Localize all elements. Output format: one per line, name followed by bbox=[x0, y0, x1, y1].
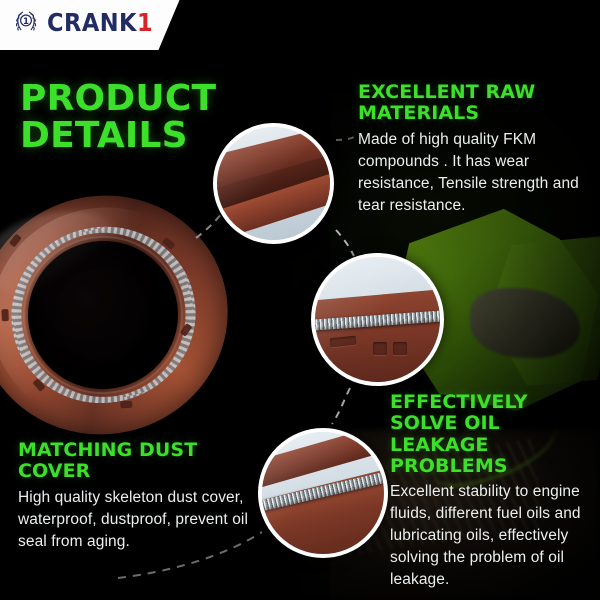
laurel-wreath-icon: 1 bbox=[12, 8, 40, 36]
callout-embossed-mark bbox=[373, 342, 387, 355]
callout-garter-spring bbox=[311, 253, 444, 386]
brand-name-main: CRANK bbox=[47, 8, 137, 37]
callout-embossed-mark bbox=[393, 342, 407, 355]
seal-notch bbox=[120, 401, 132, 409]
feature-body: High quality skeleton dust cover, waterp… bbox=[18, 487, 250, 553]
page-title: PRODUCT DETAILS bbox=[20, 80, 216, 155]
callout-seal-band bbox=[311, 287, 444, 386]
brand-name-accent: 1 bbox=[137, 8, 153, 37]
page-title-line-2: DETAILS bbox=[20, 117, 216, 154]
product-details-infographic: 1 CRANK1 PRODUCT DETAILS EXCELLENT RAW M… bbox=[0, 0, 600, 600]
brand-logo-banner[interactable]: 1 CRANK1 bbox=[0, 0, 182, 50]
wreath-number: 1 bbox=[23, 17, 29, 27]
seal-notch bbox=[1, 309, 8, 321]
feature-heading: MATCHING DUST COVER bbox=[18, 440, 250, 483]
brand-wordmark: CRANK1 bbox=[47, 10, 153, 35]
page-title-line-1: PRODUCT bbox=[20, 80, 216, 117]
callout-raw-material-edge bbox=[213, 123, 334, 244]
feature-heading: EFFECTIVELY SOLVE OIL LEAKAGE PROBLEMS bbox=[390, 392, 588, 477]
feature-block-dust-cover: MATCHING DUST COVER High quality skeleto… bbox=[18, 440, 250, 553]
feature-block-raw-materials: EXCELLENT RAW MATERIALS Made of high qua… bbox=[358, 82, 582, 217]
feature-heading: EXCELLENT RAW MATERIALS bbox=[358, 82, 582, 125]
feature-body: Excellent stability to engine fluids, di… bbox=[390, 481, 588, 591]
feature-block-oil-leakage: EFFECTIVELY SOLVE OIL LEAKAGE PROBLEMS E… bbox=[390, 392, 588, 591]
feature-body: Made of high quality FKM compounds . It … bbox=[358, 129, 582, 217]
callout-dust-lip bbox=[258, 428, 388, 558]
